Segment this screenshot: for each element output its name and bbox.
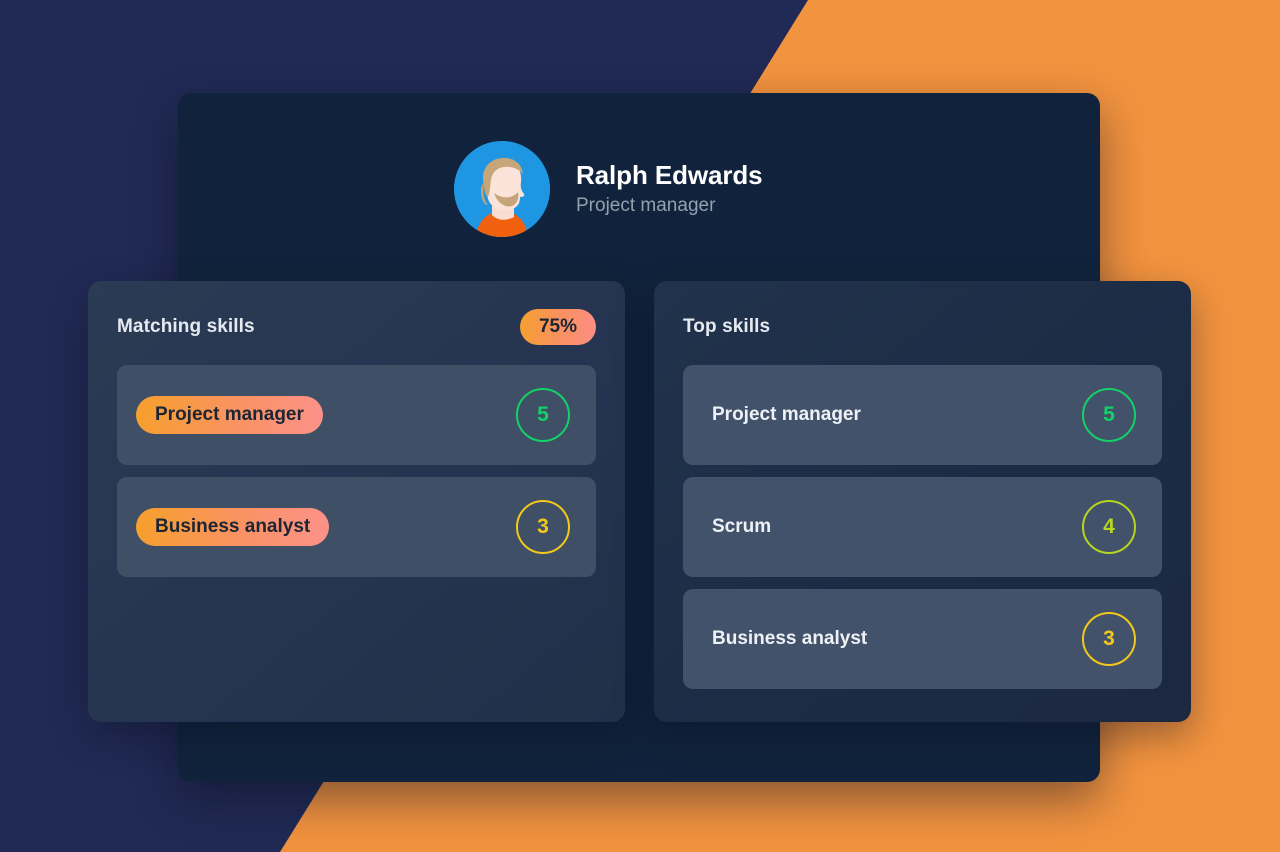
status-badge: 3 <box>516 500 570 554</box>
person-role: Project manager <box>576 195 763 218</box>
match-percent-badge: 75% <box>520 309 596 345</box>
list-item[interactable]: Project manager 5 <box>683 365 1162 465</box>
person-profile-avatar-icon <box>454 141 550 237</box>
skill-label: Scrum <box>712 516 771 538</box>
list-item[interactable]: Business analyst 3 <box>683 589 1162 689</box>
avatar <box>454 141 550 237</box>
list-item[interactable]: Project manager 5 <box>117 365 596 465</box>
screenshot-canvas: Ralph Edwards Project manager Matching s… <box>0 0 1280 852</box>
identity-block: Ralph Edwards Project manager <box>576 161 763 218</box>
skill-pill: Project manager <box>136 396 323 434</box>
list-item[interactable]: Scrum 4 <box>683 477 1162 577</box>
skill-label: Project manager <box>712 404 861 426</box>
skill-label: Business analyst <box>712 628 867 650</box>
matching-skills-panel: Matching skills 75% Project manager 5 Bu… <box>88 281 625 722</box>
top-skills-panel: Top skills Project manager 5 Scrum 4 Bus… <box>654 281 1191 722</box>
matching-skills-list: Project manager 5 Business analyst 3 <box>117 365 596 577</box>
status-badge: 5 <box>1082 388 1136 442</box>
top-skills-title: Top skills <box>683 316 770 338</box>
skill-pill: Business analyst <box>136 508 329 546</box>
list-item[interactable]: Business analyst 3 <box>117 477 596 577</box>
status-badge: 3 <box>1082 612 1136 666</box>
top-skills-list: Project manager 5 Scrum 4 Business analy… <box>683 365 1162 689</box>
profile-header: Ralph Edwards Project manager <box>454 141 763 237</box>
top-skills-header: Top skills <box>683 309 1162 345</box>
page-title: Ralph Edwards <box>576 161 763 191</box>
matching-skills-header: Matching skills 75% <box>117 309 596 345</box>
status-badge: 4 <box>1082 500 1136 554</box>
matching-skills-title: Matching skills <box>117 316 255 338</box>
status-badge: 5 <box>516 388 570 442</box>
